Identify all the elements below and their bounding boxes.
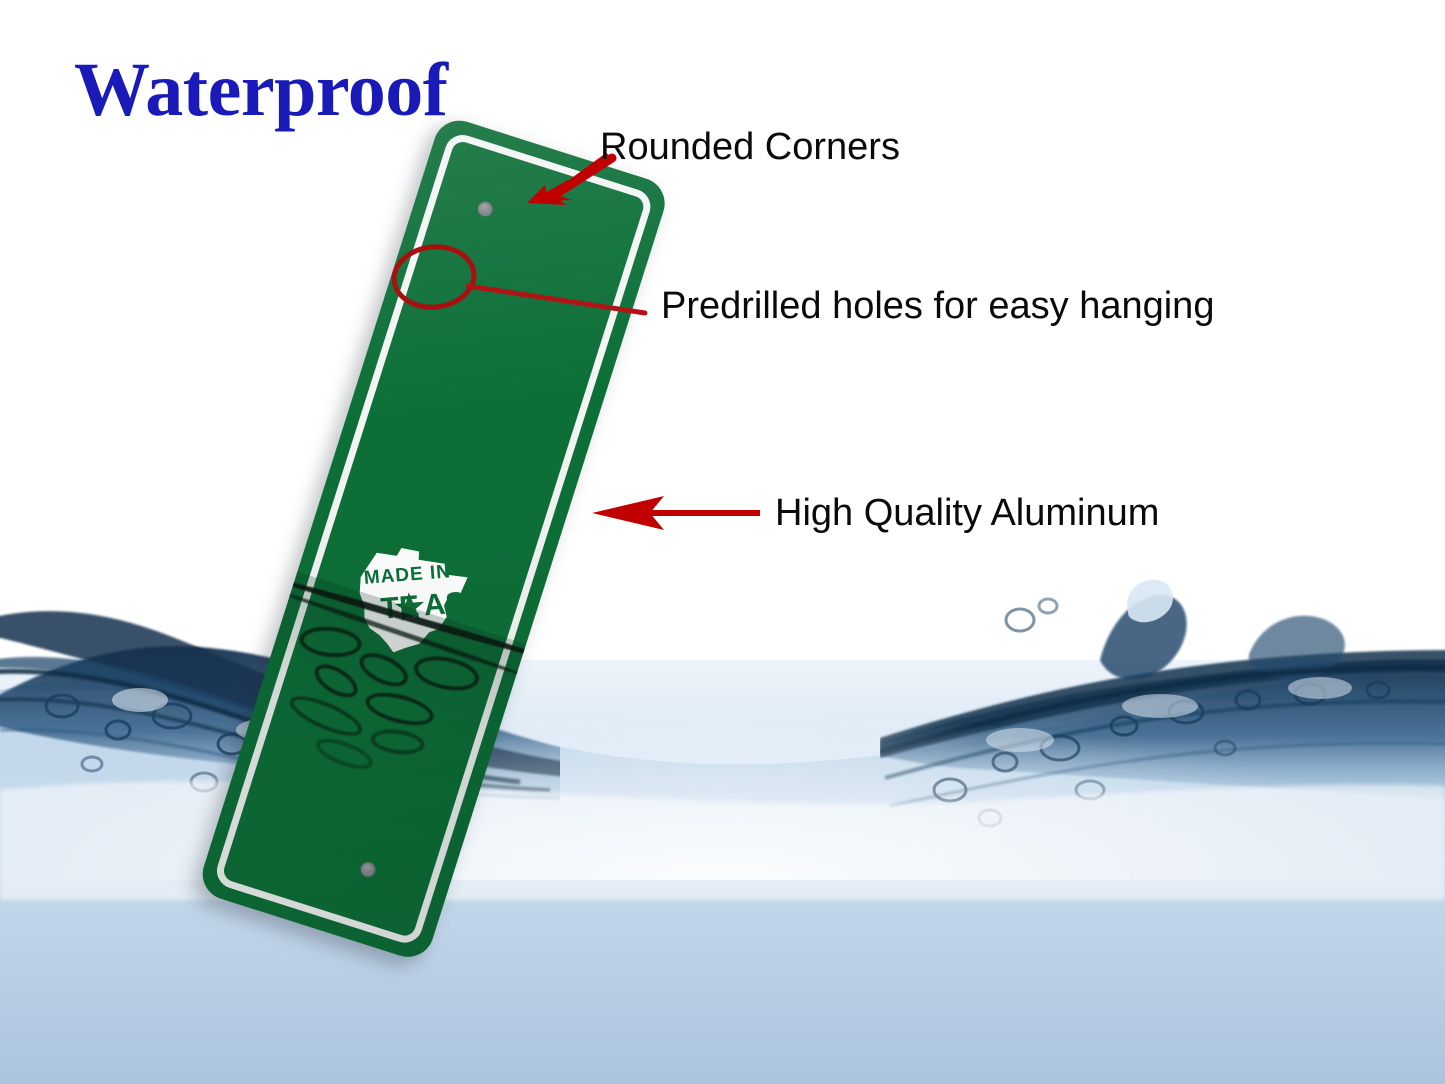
callout-label-predrilled-holes: Predrilled holes for easy hanging <box>661 287 1214 325</box>
leader-line-predrilled-holes <box>468 286 645 313</box>
callout-label-rounded-corners: Rounded Corners <box>600 128 900 166</box>
product-feature-graphic: Waterproof MADE IN TE ★ AS <box>0 0 1445 1084</box>
circle-highlight-icon <box>391 243 477 311</box>
arrow-icon-high-quality <box>592 496 760 530</box>
callout-label-high-quality-aluminum: High Quality Aluminum <box>775 494 1159 532</box>
